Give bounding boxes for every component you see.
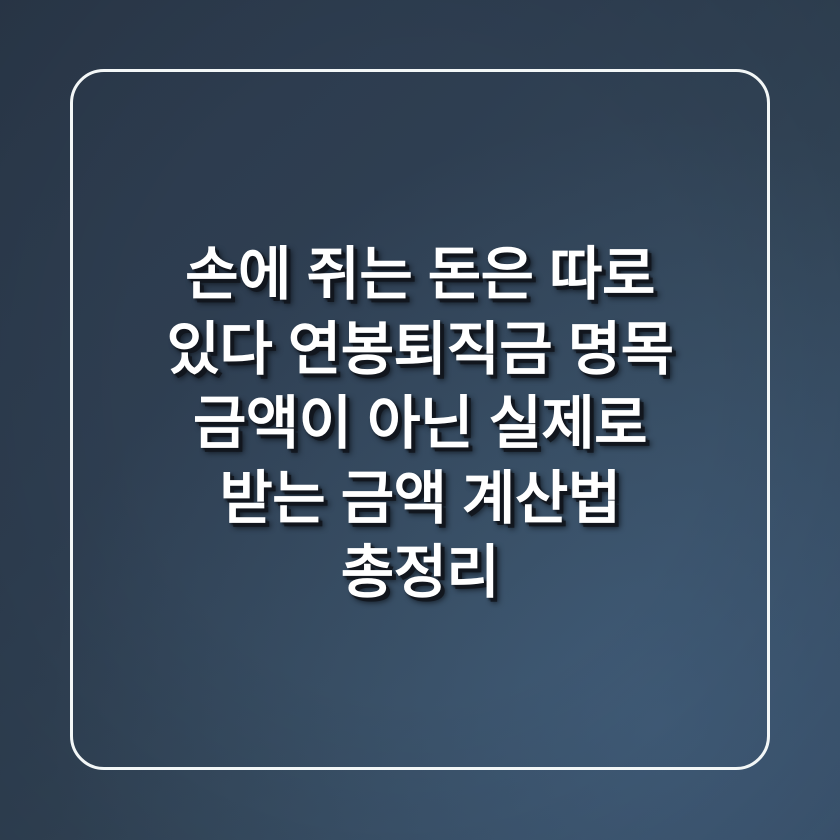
headline-line-4: 받는 금액 계산법 <box>84 462 756 537</box>
headline-line-5: 총정리 <box>84 536 756 611</box>
thumbnail-card: 손에 쥐는 돈은 따로 있다 연봉퇴직금 명목 금액이 아닌 실제로 받는 금액… <box>0 0 840 840</box>
headline-text-block: 손에 쥐는 돈은 따로 있다 연봉퇴직금 명목 금액이 아닌 실제로 받는 금액… <box>0 238 840 611</box>
headline-line-2: 있다 연봉퇴직금 명목 <box>84 313 756 388</box>
headline-line-1: 손에 쥐는 돈은 따로 <box>84 238 756 313</box>
headline-line-3: 금액이 아닌 실제로 <box>84 387 756 462</box>
